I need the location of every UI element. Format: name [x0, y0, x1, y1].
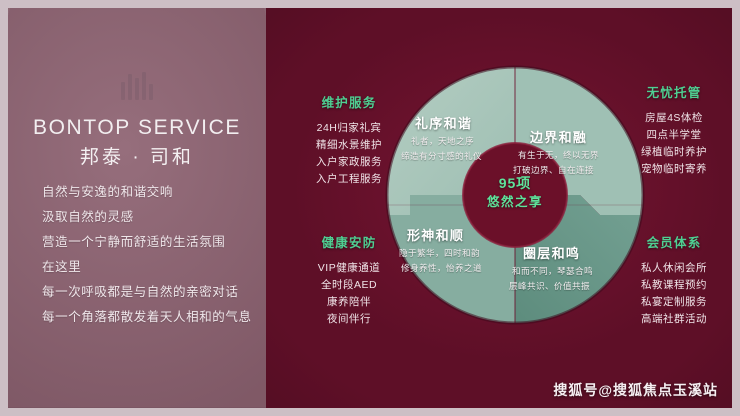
brand-panel: BONTOP SERVICE 邦泰 · 司和 自然与安逸的和谐交响 汲取自然的灵…: [8, 8, 266, 408]
brand-line: 每一次呼吸都是与自然的亲密对话: [42, 280, 252, 305]
brand-line: 汲取自然的灵感: [42, 205, 225, 230]
slide-canvas: BONTOP SERVICE 邦泰 · 司和 自然与安逸的和谐交响 汲取自然的灵…: [0, 0, 740, 416]
hub-label: 悠然之享: [385, 191, 645, 210]
brand-title-en: BONTOP SERVICE: [8, 116, 266, 140]
quadrant-4-line2: 层峰共识、价值共振: [509, 280, 590, 293]
quadrant-3-line1: 隐于繁华，四时和韵: [399, 247, 480, 260]
brand-line: 营造一个宁静而舒适的生活氛围: [42, 230, 225, 255]
quadrant-3-title: 形神和顺: [407, 225, 464, 244]
hub-count: 95项: [385, 173, 645, 193]
brand-line: 自然与安逸的和谐交响: [42, 180, 225, 205]
quadrant-4-line1: 和而不同，琴瑟合鸣: [512, 265, 593, 278]
brand-line: 每一个角落都散发着天人相和的气息: [42, 305, 252, 330]
brand-paragraph-2: 在这里 每一次呼吸都是与自然的亲密对话 每一个角落都散发着天人相和的气息: [42, 255, 252, 330]
quadrant-2-title: 边界和融: [530, 127, 587, 146]
brand-paragraph-1: 自然与安逸的和谐交响 汲取自然的灵感 营造一个宁静而舒适的生活氛围: [42, 180, 225, 255]
quadrant-1-title: 礼序和谐: [415, 113, 472, 132]
quadrant-3-line2: 修身养性，怡养之道: [401, 262, 482, 275]
service-panel: 维护服务 24H归家礼宾 精细水景维护 入户家政服务 入户工程服务 健康安防 V…: [266, 8, 732, 408]
watermark: 搜狐号@搜狐焦点玉溪站: [553, 380, 718, 400]
quadrant-4-title: 圈层和鸣: [523, 243, 580, 262]
quadrant-1-line1: 礼者，天地之序: [411, 135, 474, 148]
quadrant-1-line2: 缔造有分寸感的礼仪: [401, 150, 482, 163]
brand-title-cn: 邦泰 · 司和: [8, 142, 266, 169]
bontop-logo-icon: [115, 70, 159, 100]
quadrant-2-line1: 有生于无，终以无界: [518, 149, 599, 162]
pinwheel-diagram: 礼序和谐 礼者，天地之序 缔造有分寸感的礼仪 边界和融 有生于无，终以无界 打破…: [385, 65, 645, 325]
brand-line: 在这里: [42, 255, 252, 280]
